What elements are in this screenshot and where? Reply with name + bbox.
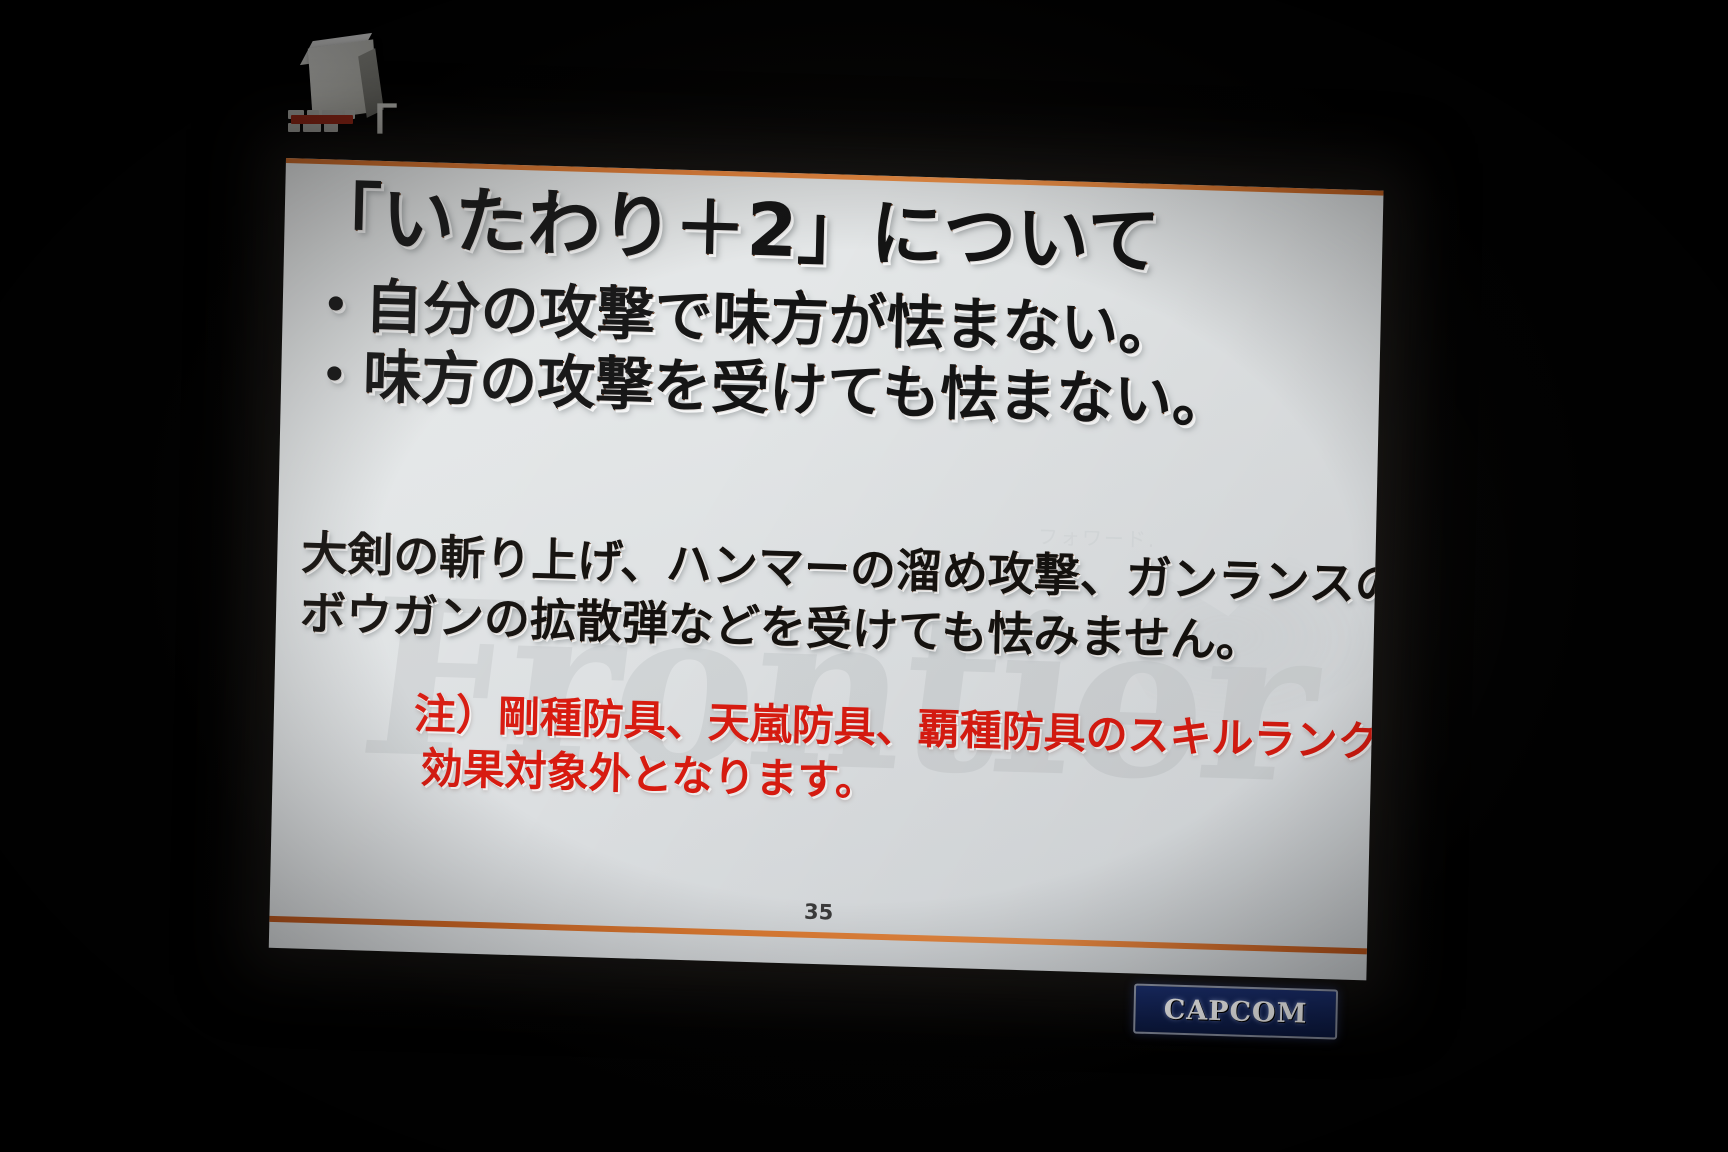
mhf-logo-letter-f: ᒥ (374, 100, 396, 140)
capcom-logo: CAPCOM (1133, 984, 1338, 1040)
body-paragraph: 大剣の斬り上げ、ハンマーの溜め攻撃、ガンランスの竜撃砲、 ボウガンの拡散弾などを… (299, 524, 1361, 675)
slide-title: 「いたわり＋2」について (308, 181, 1349, 286)
note-paragraph: 注）剛種防具、天嵐防具、覇種防具のスキルランクアップの 効果対象外となります。 (412, 687, 1374, 823)
bullet-list: ・自分の攻撃で味方が怯まない。 ・味方の攻撃を受けても怯まない。 (305, 271, 1358, 441)
projected-slide: Frontier フォワード. 「いたわり＋2」について ・自分の攻撃で味方が怯… (269, 158, 1384, 980)
slide-content: 「いたわり＋2」について ・自分の攻撃で味方が怯まない。 ・味方の攻撃を受けても… (269, 158, 1384, 980)
capcom-wordmark: CAPCOM (1163, 994, 1307, 1029)
projection-photo-frame: ᒥ Frontier フォワード. 「いたわり＋2」について ・自分の攻撃で味方… (0, 0, 1728, 1152)
mhf-cube-logo-icon: ᒥ (288, 44, 406, 148)
slide-surface: Frontier フォワード. 「いたわり＋2」について ・自分の攻撃で味方が怯… (269, 158, 1384, 980)
page-number: 35 (270, 884, 1368, 941)
